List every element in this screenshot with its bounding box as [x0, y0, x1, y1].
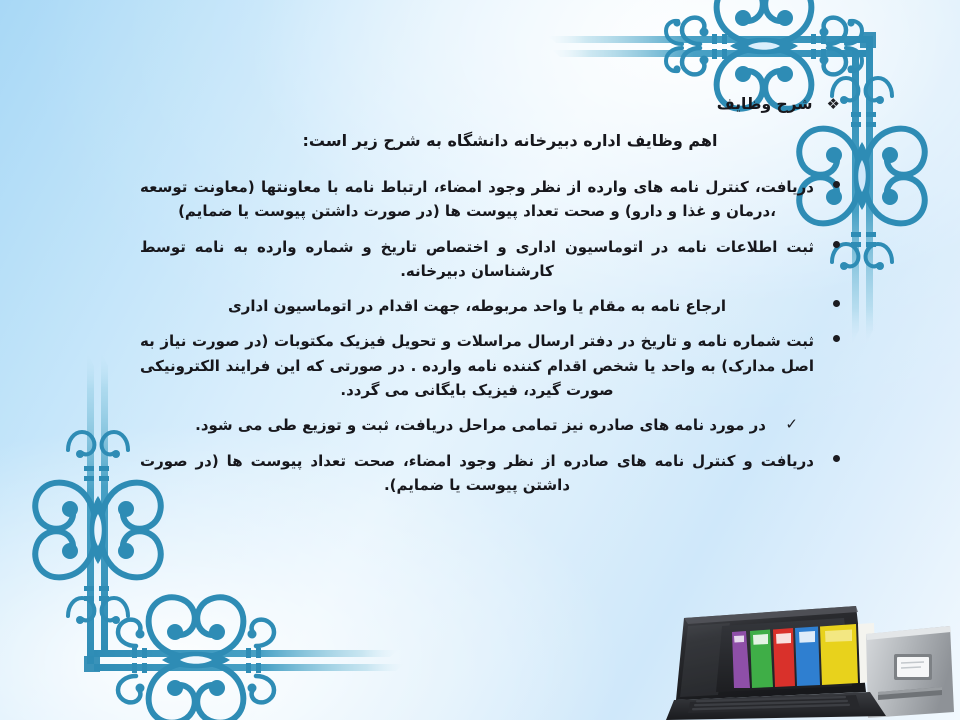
ornament-vertical-rail [852, 36, 873, 344]
task-list: دریافت، کنترل نامه های وارده از نظر وجود… [140, 175, 840, 497]
ornament-ladder-bars-horizontal [712, 34, 826, 59]
ornament-curl-right-lower [820, 48, 863, 74]
presentation-slide: ❖ شرح وظایف اهم وظایف اداره دبیرخانه دان… [0, 0, 960, 720]
list-item: دریافت، کنترل نامه های وارده از نظر وجود… [140, 175, 840, 224]
ornament-bl-curl-h [248, 620, 275, 646]
list-item-text: دریافت، کنترل نامه های وارده از نظر وجود… [140, 178, 814, 220]
ornament-curl-vert-d [866, 244, 892, 270]
list-item-text: ثبت شماره نامه و تاریخ در دفتر ارسال مرا… [140, 332, 814, 399]
list-item-text: دریافت و کنترل نامه های صادره از نظر وجو… [140, 452, 814, 494]
ornament-horizontal-rail [548, 36, 866, 57]
disc-bullet-icon [833, 300, 840, 307]
slide-content: ❖ شرح وظایف اهم وظایف اداره دبیرخانه دان… [140, 95, 840, 508]
laptop-lid [676, 606, 866, 700]
disc-bullet-icon [833, 455, 840, 462]
floret-bullet-icon: ❖ [827, 97, 840, 112]
ornament-bl-horizontal-rail [94, 650, 404, 671]
list-item-text: در مورد نامه های صادره نیز تمامی مراحل د… [195, 416, 766, 434]
ornament-bl-ladder-vertical [84, 466, 109, 601]
ornament-medallion-top [717, 0, 812, 109]
intro-paragraph: اهم وظایف اداره دبیرخانه دانشگاه به شرح … [140, 129, 840, 153]
ornament-bl-curl-f [118, 620, 145, 646]
ornament-curl-vert-b [866, 78, 892, 104]
ornament-bl-medallion-bottom [149, 597, 244, 720]
laptop-filing-cabinet-binders-image [660, 596, 960, 720]
disc-bullet-icon [833, 181, 840, 188]
page-title: شرح وظایف [717, 95, 813, 113]
ornament-bl-curl-d [102, 598, 128, 624]
ornament-bl-curl-g [248, 676, 275, 702]
binder-stack [732, 623, 876, 688]
cabinet-drawer [866, 626, 954, 718]
ornament-bl-curl-b [102, 432, 128, 458]
check-bullet-icon: ✓ [785, 412, 798, 436]
ornament-curl-left-lower [666, 48, 709, 74]
ornament-curl-left-upper [666, 18, 709, 44]
laptop-screen [716, 618, 852, 692]
list-item: ارجاع نامه به مقام یا واحد مربوطه، جهت ا… [140, 294, 840, 318]
section-heading: ❖ شرح وظایف [140, 95, 840, 113]
disc-bullet-icon [833, 335, 840, 342]
ornament-bl-vertical-rail [87, 352, 108, 664]
ornament-curl-right-upper [820, 18, 863, 44]
list-item: ثبت اطلاعات نامه در اتوماسیون اداری و اخ… [140, 235, 840, 284]
list-item-text: ارجاع نامه به مقام یا واحد مربوطه، جهت ا… [228, 297, 726, 315]
list-item-text: ثبت اطلاعات نامه در اتوماسیون اداری و اخ… [140, 238, 814, 280]
ornament-bl-curl-c [68, 598, 94, 624]
ornament-bl-curl-a [68, 432, 94, 458]
list-item: ثبت شماره نامه و تاریخ در دفتر ارسال مرا… [140, 329, 840, 402]
ornament-ladder-bars-vertical [851, 112, 876, 247]
ornament-bl-curl-e [118, 676, 145, 702]
laptop-base [666, 692, 886, 720]
list-item: دریافت و کنترل نامه های صادره از نظر وجو… [140, 449, 840, 498]
disc-bullet-icon [833, 241, 840, 248]
ornament-bl-ladder-horizontal [132, 648, 261, 673]
list-item-checked: ✓ در مورد نامه های صادره نیز تمامی مراحل… [140, 413, 840, 437]
